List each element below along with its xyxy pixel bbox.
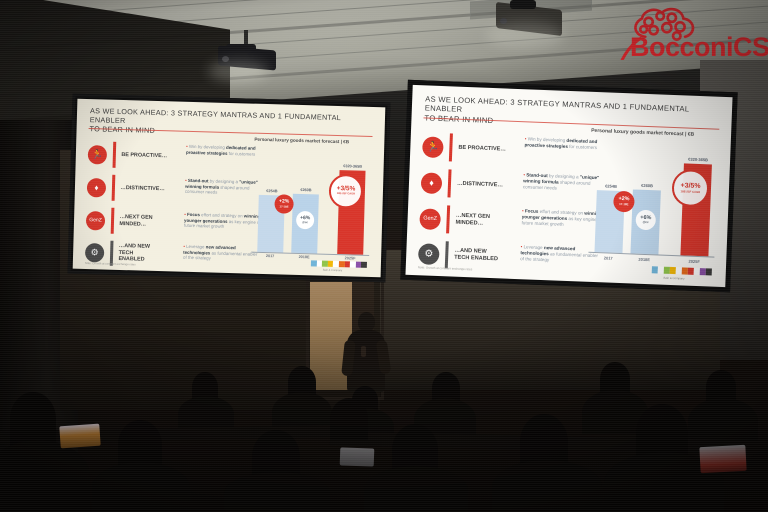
projector-left xyxy=(212,30,282,80)
brand-caption: Bain & Company xyxy=(663,276,684,281)
diamond-icon: ♦ xyxy=(87,178,107,198)
genz-icon: GenZ xyxy=(419,208,441,230)
chart-right: €254B €260B €320-365B +2% 17-18E +6% @cc… xyxy=(588,140,718,257)
mantra-label: …AND NEW TECH ENABLED xyxy=(118,243,161,264)
bar-label-2025f: €320-365B xyxy=(677,156,719,163)
slide-right: AS WE LOOK AHEAD: 3 STRATEGY MANTRAS AND… xyxy=(405,85,732,287)
bullet-lead: Win xyxy=(189,144,197,149)
audience-head xyxy=(10,392,56,446)
audience-shoulders xyxy=(224,472,330,512)
bullet-lead: Win xyxy=(528,136,536,141)
brand-caption: Bain & Company xyxy=(323,269,343,273)
audience-shoulders xyxy=(364,466,468,512)
bullet-item: • Focus effort and strategy on winning y… xyxy=(184,212,262,231)
genz-icon: GenZ xyxy=(86,211,106,231)
audience-shoulders xyxy=(92,462,190,512)
xtick-2017: 2017 xyxy=(257,254,283,259)
slide-footnote: Note: Growth at constant exchange rates xyxy=(418,265,473,271)
bar-label-2025f: €320-365B xyxy=(334,164,372,169)
mantra-label: …NEXT GEN MINDED… xyxy=(119,214,165,228)
gear-tech-icon: ⚙ xyxy=(85,243,105,263)
xtick-2018e: 2018E xyxy=(291,255,317,260)
annotation-sub: 18E-25F CAGR xyxy=(337,193,355,196)
xtick-2018e: 2018E xyxy=(630,256,658,262)
laptop-screen xyxy=(699,445,746,473)
audience-shoulders xyxy=(492,460,602,512)
mantra-row: ♦ …DISTINCTIVE… xyxy=(420,166,521,202)
slide-left: AS WE LOOK AHEAD: 3 STRATEGY MANTRAS AND… xyxy=(73,99,386,278)
mantra-label: …NEXT GEN MINDED… xyxy=(455,213,503,228)
bullet-lead: Stand-out xyxy=(188,178,209,184)
bullet-item: • Stand-out by designing a "unique" winn… xyxy=(185,178,263,197)
annotation-sub: 18E-25F CAGR xyxy=(680,190,700,194)
mantra-row: GenZ …NEXT GEN MINDED… xyxy=(86,205,182,238)
xtick-2025f: 2025F xyxy=(680,258,708,264)
mantra-label: BE PROACTIVE… xyxy=(458,144,506,153)
annotation-sub: 17-18E xyxy=(279,205,288,208)
audience-head xyxy=(330,398,368,440)
mantra-label: BE PROACTIVE… xyxy=(121,152,167,160)
bullet-lead: Leverage xyxy=(186,244,204,250)
xtick-2025f: 2025F xyxy=(337,256,363,261)
mantra-label: …DISTINCTIVE… xyxy=(457,180,503,189)
bullet-item: • Win by developing dedicated and proact… xyxy=(186,144,264,158)
bullet-tail: for customers xyxy=(229,151,256,157)
bullet-item: • Leverage new advanced technologies as … xyxy=(183,244,261,263)
microphone-icon xyxy=(361,346,366,357)
annotation-sub: @cc xyxy=(643,221,649,224)
bar-label-2017: €254B xyxy=(595,183,627,189)
bocconi-csa-logo: BocconiCSA xyxy=(612,2,768,58)
brand-logo-strip xyxy=(311,260,367,268)
diamond-icon: ♦ xyxy=(421,172,443,194)
logo-text-primary: Bocconi xyxy=(630,32,733,62)
audience-shoulders xyxy=(688,398,758,444)
bullet-lead: Focus xyxy=(525,208,539,214)
screenshot-root: AS WE LOOK AHEAD: 3 STRATEGY MANTRAS AND… xyxy=(0,0,768,512)
annotation-plus2: +2% 17-18E xyxy=(274,194,294,214)
mantra-row: ♦ …DISTINCTIVE… xyxy=(87,172,183,205)
logo-text-secondary: CSA xyxy=(733,32,768,62)
runner-icon: 🏃 xyxy=(422,136,444,158)
screen-left: AS WE LOOK AHEAD: 3 STRATEGY MANTRAS AND… xyxy=(68,94,391,283)
bullet-lead: Focus xyxy=(187,212,200,217)
xtick-2017: 2017 xyxy=(594,255,622,261)
gear-tech-icon: ⚙ xyxy=(418,243,440,265)
bullet-lead: Leverage xyxy=(523,244,542,250)
screen-right: AS WE LOOK AHEAD: 3 STRATEGY MANTRAS AND… xyxy=(400,80,737,293)
bullet-lead: Stand-out xyxy=(526,172,548,178)
projector-right xyxy=(492,0,572,48)
page-title-left: AS WE LOOK AHEAD: 3 STRATEGY MANTRAS AND… xyxy=(89,107,372,141)
bar-label-2018e: €260B xyxy=(293,188,319,193)
chart-left: €254B €260B €320-365B +2% 17-18E +6% @cc… xyxy=(251,148,372,255)
logo-text: BocconiCSA xyxy=(630,32,768,63)
brand-logo-strip xyxy=(652,266,712,275)
bar-label-2017: €254B xyxy=(259,189,285,194)
presenter-head xyxy=(358,312,375,332)
annotation-sub: @cc xyxy=(302,221,308,224)
bar-label-2018e: €260B xyxy=(631,182,663,188)
mantra-label: …AND NEW TECH ENABLED xyxy=(454,248,498,263)
laptop-screen xyxy=(340,447,375,466)
runner-icon: 🏃 xyxy=(88,145,108,165)
mantra-row: 🏃 BE PROACTIVE… xyxy=(87,139,183,172)
mantra-label: …DISTINCTIVE… xyxy=(120,185,164,193)
mantra-row: GenZ …NEXT GEN MINDED… xyxy=(419,202,520,238)
mantra-row: 🏃 BE PROACTIVE… xyxy=(422,130,523,166)
annotation-sub: 17-18E xyxy=(619,203,628,206)
laptop-screen xyxy=(59,424,100,449)
